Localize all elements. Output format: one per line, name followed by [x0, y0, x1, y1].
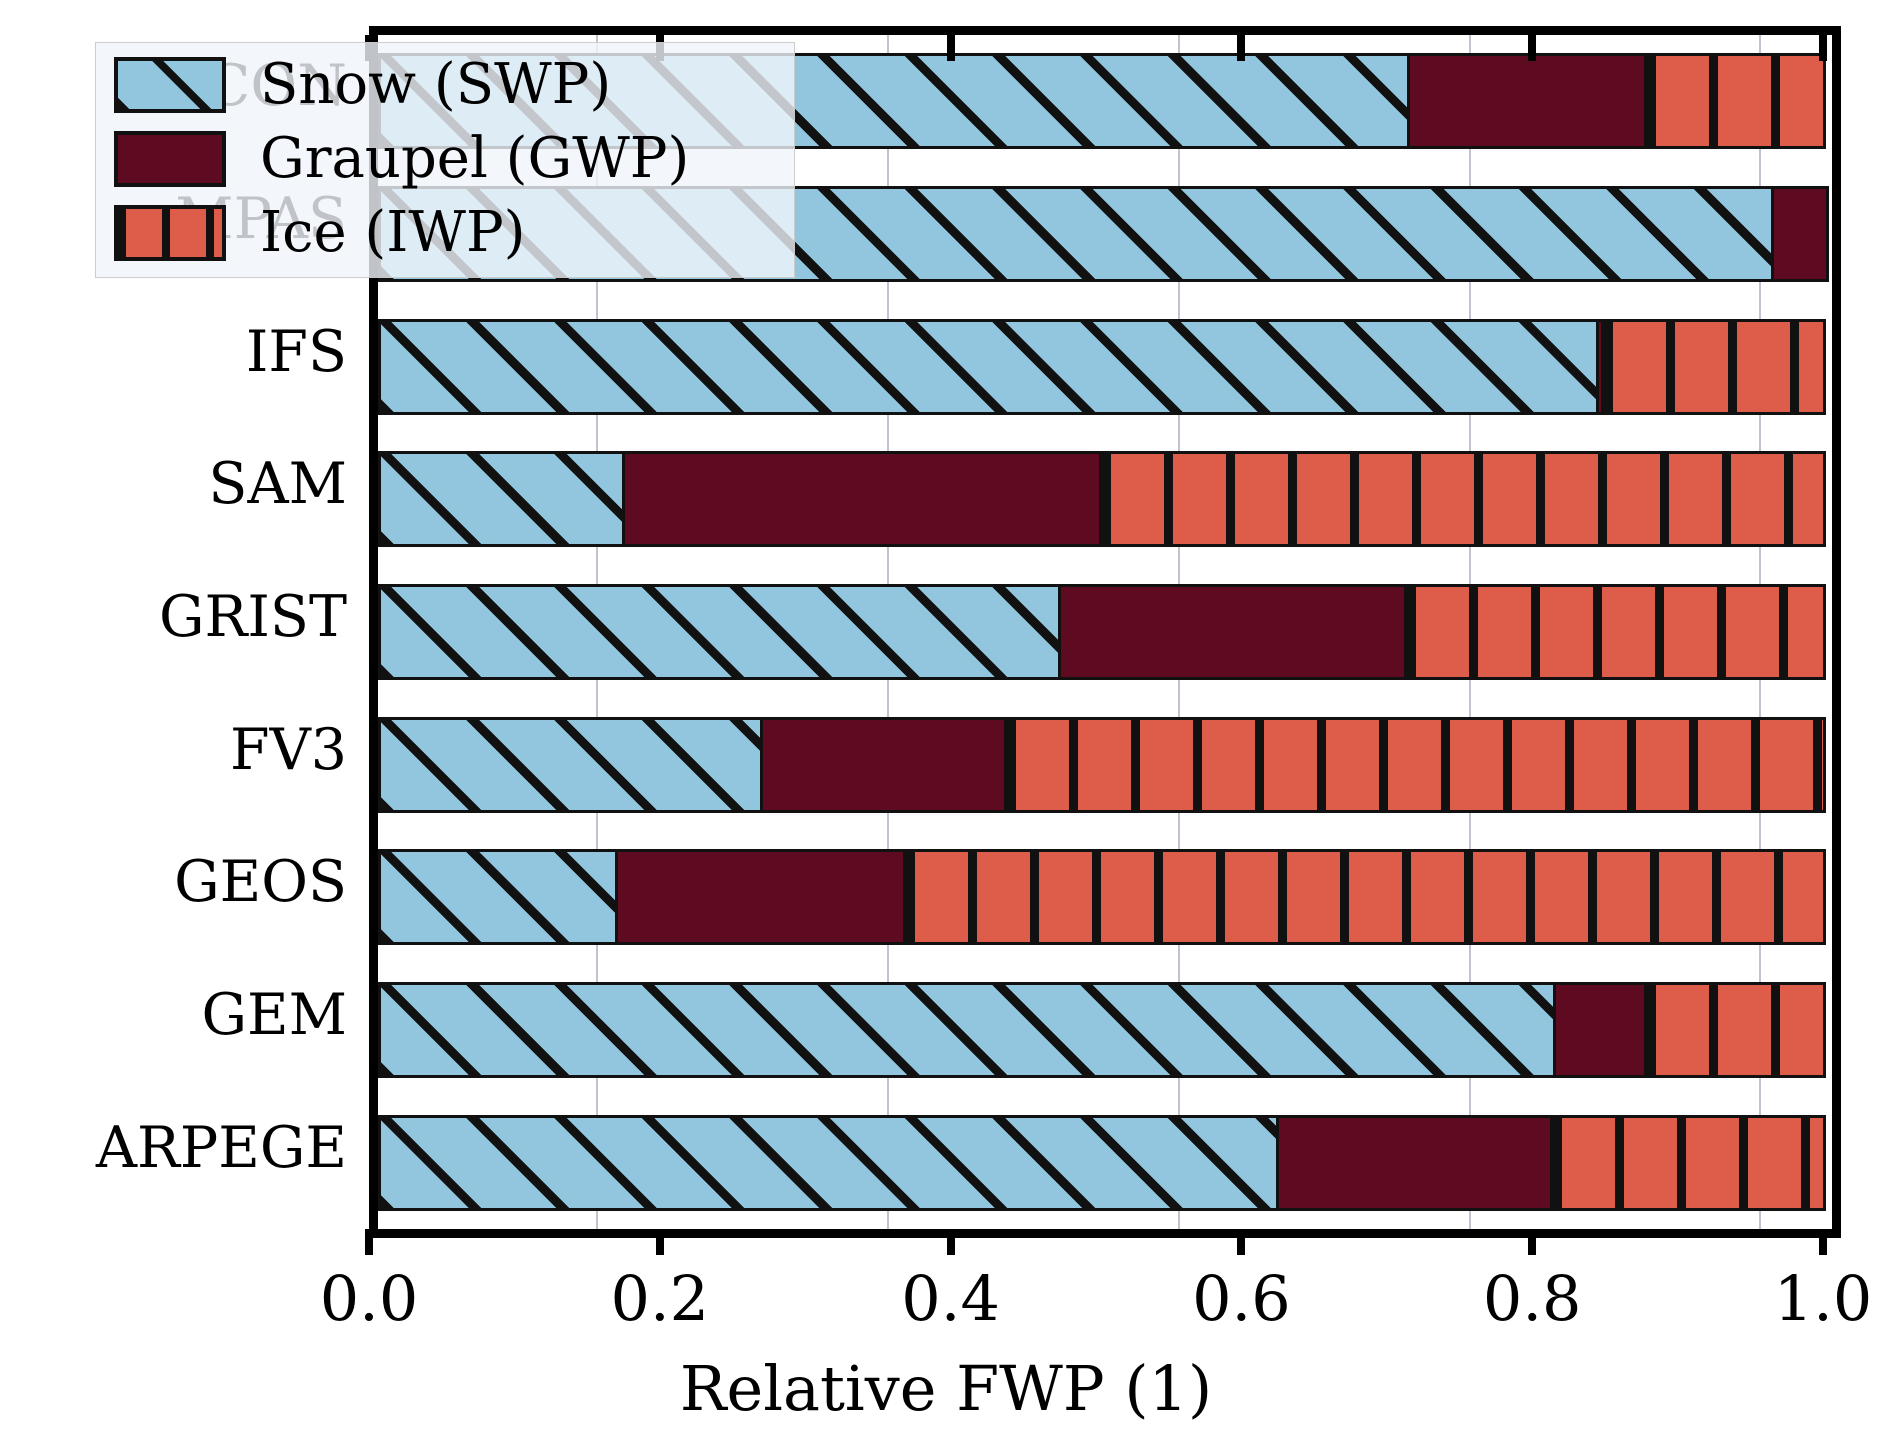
x-tick-mark-top — [947, 35, 955, 61]
ice-swatch-icon — [114, 205, 226, 261]
x-tick-label: 1.0 — [1774, 1262, 1873, 1335]
bar-row — [378, 849, 1826, 945]
legend-item-graupel: Graupel (GWP) — [114, 131, 776, 187]
bar-segment-ice — [1644, 982, 1826, 1078]
y-tick-label-sam: SAM — [0, 456, 347, 513]
x-tick-label: 0.8 — [1483, 1262, 1582, 1335]
x-tick-mark — [656, 1229, 664, 1255]
bar-row — [378, 319, 1826, 415]
bar-row — [378, 1115, 1826, 1211]
legend: Snow (SWP) Graupel (GWP) Ice (IWP) — [95, 42, 795, 278]
x-tick-mark — [1237, 1229, 1245, 1255]
x-tick-mark — [947, 1229, 955, 1255]
x-tick-label: 0.4 — [901, 1262, 1000, 1335]
bar-segment-ice — [1644, 53, 1826, 149]
x-tick-mark-top — [1237, 35, 1245, 61]
bar-row — [378, 584, 1826, 680]
y-tick-label-arpege: ARPEGE — [0, 1120, 347, 1177]
x-tick-label: 0.0 — [320, 1262, 419, 1335]
y-tick-label-gem: GEM — [0, 987, 347, 1044]
x-tick-mark — [1819, 1229, 1827, 1255]
x-tick-mark-top — [1528, 35, 1536, 61]
legend-label-snow: Snow (SWP) — [260, 57, 611, 113]
bar-segment-ice — [1099, 451, 1826, 547]
bar-segment-snow — [378, 982, 1556, 1078]
y-tick-label-grist: GRIST — [0, 589, 347, 646]
x-tick-mark — [1528, 1229, 1536, 1255]
bar-row — [378, 982, 1826, 1078]
bar-segment-graupel — [1058, 584, 1407, 680]
bar-segment-ice — [1404, 584, 1826, 680]
bar-segment-graupel — [760, 717, 1007, 813]
legend-item-ice: Ice (IWP) — [114, 205, 776, 261]
y-tick-label-geos: GEOS — [0, 854, 347, 911]
graupel-swatch-icon — [114, 131, 226, 187]
y-tick-label-ifs: IFS — [0, 324, 347, 381]
bar-segment-ice — [1004, 717, 1826, 813]
bar-row — [378, 717, 1826, 813]
bar-segment-ice — [1550, 1115, 1826, 1211]
x-axis-title: Relative FWP (1) — [0, 1352, 1892, 1425]
bar-segment-ice — [1601, 319, 1826, 415]
bar-segment-snow — [378, 1115, 1279, 1211]
bar-segment-graupel — [1553, 982, 1648, 1078]
bar-segment-snow — [378, 584, 1061, 680]
bar-segment-graupel — [1771, 186, 1829, 282]
x-tick-mark — [365, 1229, 373, 1255]
legend-item-snow: Snow (SWP) — [114, 57, 776, 113]
bar-segment-graupel — [615, 849, 906, 945]
bar-segment-snow — [378, 717, 763, 813]
bar-segment-graupel — [1276, 1115, 1552, 1211]
legend-label-ice: Ice (IWP) — [260, 205, 525, 261]
x-tick-mark-top — [1819, 35, 1827, 61]
bar-segment-graupel — [1407, 53, 1647, 149]
y-tick-label-fv3: FV3 — [0, 722, 347, 779]
x-tick-label: 0.2 — [610, 1262, 709, 1335]
bar-segment-snow — [378, 451, 625, 547]
bar-row — [378, 451, 1826, 547]
figure-canvas: ICONMPASIFSSAMGRISTFV3GEOSGEMARPEGE 0.00… — [0, 0, 1892, 1451]
x-tick-label: 0.6 — [1192, 1262, 1291, 1335]
bar-segment-ice — [903, 849, 1826, 945]
legend-label-graupel: Graupel (GWP) — [260, 131, 689, 187]
snow-swatch-icon — [114, 57, 226, 113]
bar-segment-snow — [378, 319, 1599, 415]
bar-segment-graupel — [622, 451, 1102, 547]
bar-segment-snow — [378, 849, 618, 945]
